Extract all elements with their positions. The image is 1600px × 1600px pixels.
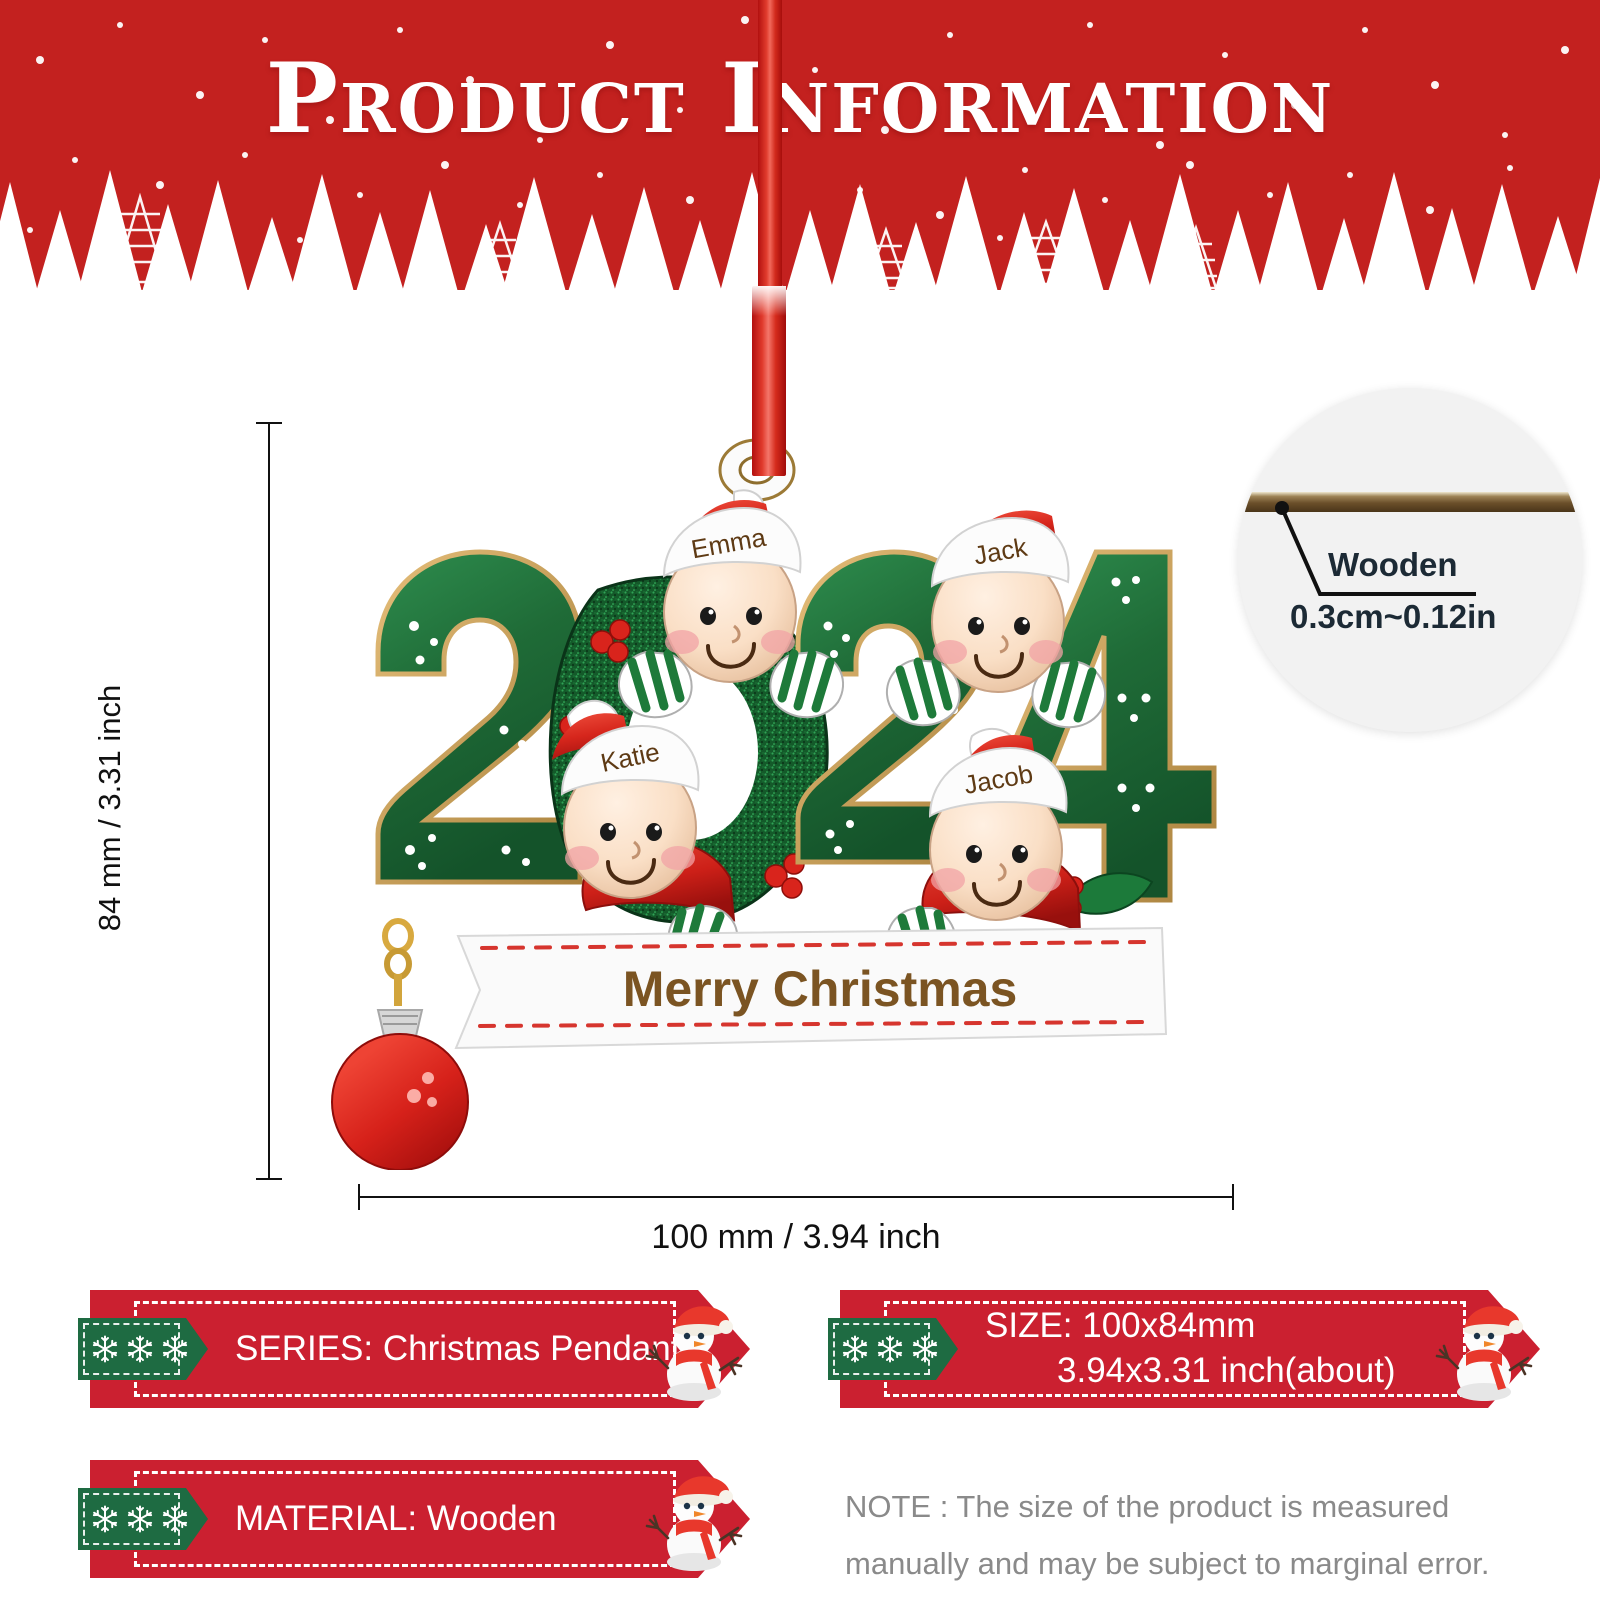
snowflake-icon [910, 1334, 940, 1364]
snowflake-tag [828, 1318, 958, 1380]
info-tag-text: SIZE: 100x84mm 3.94x3.31 inch(about) [985, 1290, 1396, 1408]
banner-text-merry-christmas: Merry Christmas [623, 961, 1018, 1017]
hanging-ribbon-lower [752, 286, 786, 476]
snowman-icon [638, 1466, 750, 1574]
note-text-block: NOTE : The size of the product is measur… [845, 1478, 1525, 1593]
merry-christmas-banner: Merry Christmas [456, 928, 1166, 1048]
detail-thickness-label: 0.3cm~0.12in [1290, 598, 1540, 636]
emma-right-mitten [770, 652, 843, 717]
snowflake-icon [840, 1334, 870, 1364]
width-dimension-line [358, 1196, 1234, 1198]
header-banner: Product Information [0, 0, 1600, 290]
width-dimension-cap-right [1232, 1184, 1234, 1210]
digit-2-first [378, 552, 580, 882]
snowflake-icon [125, 1504, 155, 1534]
snowflake-icon [125, 1334, 155, 1364]
info-tag-series: SERIES: Christmas Pendant [60, 1290, 720, 1408]
info-tag-line2: 3.94x3.31 inch(about) [1057, 1349, 1396, 1394]
snowman-icon [1428, 1296, 1540, 1404]
snowflake-icon-group [88, 1497, 192, 1541]
snowflake-icon [160, 1504, 190, 1534]
note-line-1: NOTE : The size of the product is measur… [845, 1478, 1525, 1535]
product-ornament-image: Emma Jack [330, 430, 1250, 1170]
snowflake-icon [90, 1334, 120, 1364]
thickness-detail-circle: Wooden 0.3cm~0.12in [1238, 388, 1582, 732]
info-tag-text: MATERIAL: Wooden [235, 1460, 557, 1578]
snowflake-icon [90, 1504, 120, 1534]
height-dimension-cap-bottom [256, 1178, 282, 1180]
detail-material-label: Wooden [1328, 546, 1528, 584]
dangling-ball-ornament [332, 921, 468, 1170]
info-tag-line1: SERIES: Christmas Pendant [235, 1327, 680, 1372]
width-dimension-label: 100 mm / 3.94 inch [358, 1218, 1234, 1257]
page-title: Product Information [0, 42, 1600, 155]
snowman-icon [638, 1296, 750, 1404]
emma-left-mitten [619, 652, 692, 717]
hanging-ribbon-upper [758, 0, 782, 290]
info-tag-text: SERIES: Christmas Pendant [235, 1290, 680, 1408]
height-dimension-cap-top [256, 422, 282, 424]
width-dimension-cap-left [358, 1184, 360, 1210]
snowflake-icon-group [838, 1327, 942, 1371]
note-line-2: manually and may be subject to marginal … [845, 1535, 1525, 1592]
snowflake-tag [78, 1488, 208, 1550]
height-dimension-line [268, 422, 270, 1180]
snowflake-icon [875, 1334, 905, 1364]
snowflake-icon [160, 1334, 190, 1364]
height-dimension-label: 84 mm / 3.31 inch [92, 628, 128, 988]
info-tag-line1: SIZE: 100x84mm [985, 1304, 1396, 1349]
info-tag-line1: MATERIAL: Wooden [235, 1497, 557, 1542]
info-tag-material: MATERIAL: Wooden [60, 1460, 720, 1578]
snowflake-icon-group [88, 1327, 192, 1371]
info-tag-size: SIZE: 100x84mm 3.94x3.31 inch(about) [810, 1290, 1510, 1408]
snowflake-tag [78, 1318, 208, 1380]
pine-tree-border-decoration [0, 162, 1600, 290]
